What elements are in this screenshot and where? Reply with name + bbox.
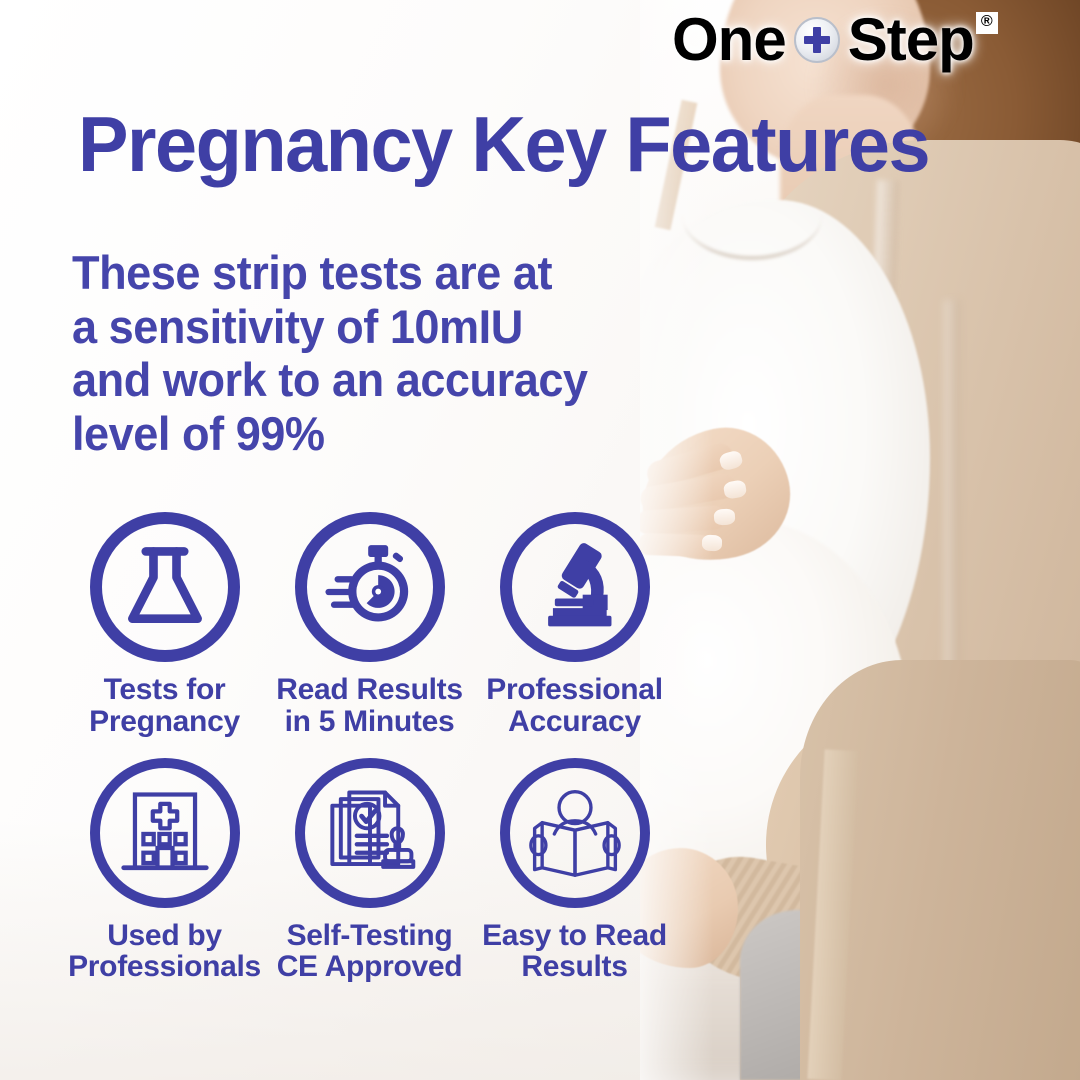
feature-label: Read Results in 5 Minutes — [276, 674, 462, 738]
feature-label: Self-Testing CE Approved — [277, 920, 463, 984]
brand-logo: One Step ® — [672, 10, 998, 70]
flask-icon — [90, 512, 240, 662]
brand-name-step: Step — [848, 10, 974, 70]
pregnancy-key-features-poster: One Step ® Pregnancy Key Features These … — [0, 0, 1080, 1080]
plus-icon — [804, 27, 830, 53]
feature-label: Used by Professionals — [68, 920, 261, 984]
feature-item: Used by Professionals — [62, 758, 267, 984]
page-subtitle: These strip tests are at a sensitivity o… — [72, 246, 588, 460]
brand-name-one: One — [672, 10, 786, 70]
feature-label: Tests for Pregnancy — [89, 674, 240, 738]
feature-item: Tests for Pregnancy — [62, 512, 267, 738]
feature-item: Easy to Read Results — [472, 758, 677, 984]
feature-item: Professional Accuracy — [472, 512, 677, 738]
feature-item: Read Results in 5 Minutes — [267, 512, 472, 738]
page-title: Pregnancy Key Features — [78, 105, 929, 183]
registered-trademark-icon: ® — [976, 12, 998, 34]
feature-item: Self-Testing CE Approved — [267, 758, 472, 984]
feature-label: Easy to Read Results — [482, 920, 667, 984]
hospital-icon — [90, 758, 240, 908]
stopwatch-icon — [295, 512, 445, 662]
feature-label: Professional Accuracy — [486, 674, 662, 738]
certificate-stamp-icon — [295, 758, 445, 908]
feature-grid: Tests for Pregnancy Read Results in — [62, 512, 682, 983]
person-reading-icon — [500, 758, 650, 908]
microscope-icon — [500, 512, 650, 662]
plus-badge-icon — [794, 17, 840, 63]
